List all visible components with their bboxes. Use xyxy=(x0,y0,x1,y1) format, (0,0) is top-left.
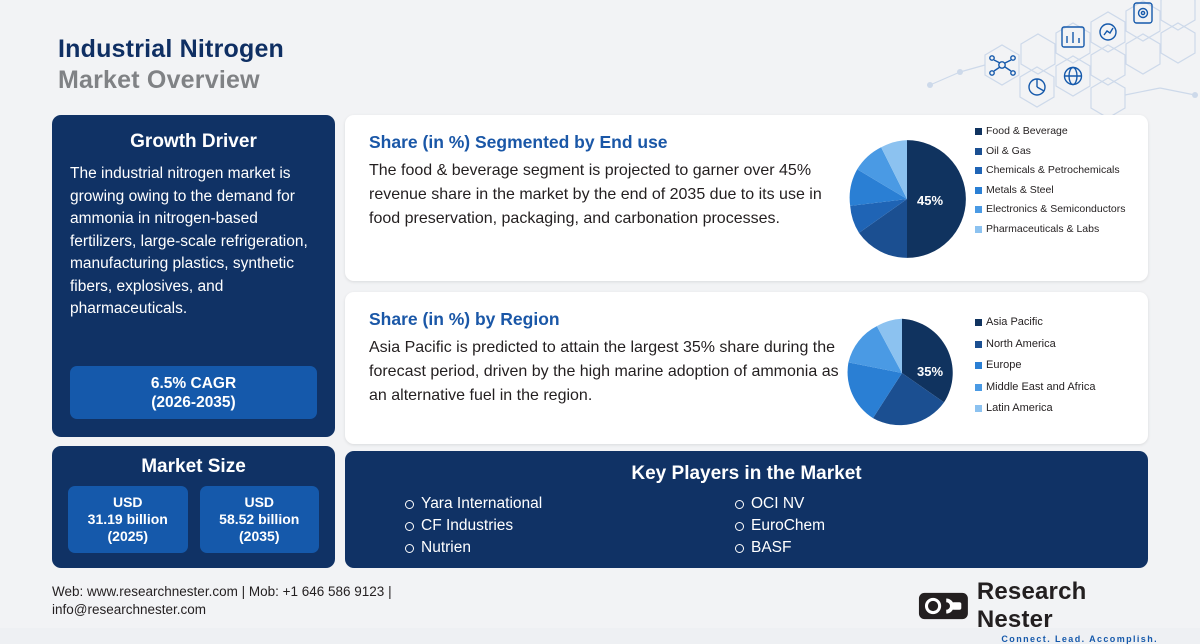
legend-swatch xyxy=(975,405,982,412)
legend-label: Chemicals & Petrochemicals xyxy=(986,164,1120,178)
year-label: (2035) xyxy=(239,528,279,545)
bullet-icon xyxy=(735,544,744,553)
region-pie-chart xyxy=(843,314,961,432)
legend-swatch xyxy=(975,167,982,174)
analytics-chart-icon xyxy=(1100,24,1116,40)
pie-chart-icon xyxy=(1029,79,1045,95)
global-money-icon xyxy=(1065,68,1082,85)
currency-label: USD xyxy=(244,494,274,511)
legend-item: Pharmaceuticals & Labs xyxy=(975,223,1145,237)
value-label: 58.52 billion xyxy=(219,511,299,528)
logo-wordmark: Research Nester xyxy=(977,578,1158,634)
list-item: Nutrien xyxy=(405,537,735,559)
value-label: 31.19 billion xyxy=(88,511,168,528)
cagr-period: (2026-2035) xyxy=(151,393,235,412)
legend-swatch xyxy=(975,226,982,233)
growth-driver-panel: Growth Driver The industrial nitrogen ma… xyxy=(52,115,335,437)
bullet-icon xyxy=(405,500,414,509)
legend-label: Metals & Steel xyxy=(986,184,1054,198)
clipboard-gear-icon xyxy=(1134,3,1152,23)
legend-item: Asia Pacific xyxy=(975,316,1145,330)
list-item: OCI NV xyxy=(735,493,1065,515)
legend-label: Europe xyxy=(986,359,1021,373)
bullet-icon xyxy=(735,500,744,509)
list-item: EuroChem xyxy=(735,515,1065,537)
cagr-value: 6.5% CAGR xyxy=(151,374,236,393)
bar-chart-icon xyxy=(1062,27,1084,47)
player-name: Nutrien xyxy=(421,537,471,559)
footer-contact: Web: www.researchnester.com | Mob: +1 64… xyxy=(52,583,392,619)
research-nester-logo: Research Nester Connect. Lead. Accomplis… xyxy=(918,578,1158,622)
network-node-icon xyxy=(990,56,1015,75)
bullet-icon xyxy=(735,522,744,531)
list-item: Yara International xyxy=(405,493,735,515)
legend-swatch xyxy=(975,206,982,213)
bullet-icon xyxy=(405,522,414,531)
player-name: OCI NV xyxy=(751,493,804,515)
market-size-heading: Market Size xyxy=(52,446,335,486)
legend-label: Oil & Gas xyxy=(986,145,1031,159)
year-label: (2025) xyxy=(108,528,148,545)
legend-item: North America xyxy=(975,338,1145,352)
legend-label: Latin America xyxy=(986,402,1053,416)
market-size-panel: Market Size USD 31.19 billion (2025) USD… xyxy=(52,446,335,568)
legend-swatch xyxy=(975,187,982,194)
legend-label: Middle East and Africa xyxy=(986,381,1095,395)
growth-driver-heading: Growth Driver xyxy=(52,115,335,163)
logo-tagline: Connect. Lead. Accomplish. xyxy=(918,634,1158,644)
player-name: EuroChem xyxy=(751,515,825,537)
legend-item: Food & Beverage xyxy=(975,125,1145,139)
end-use-legend: Food & Beverage Oil & Gas Chemicals & Pe… xyxy=(975,125,1145,242)
legend-label: Electronics & Semiconductors xyxy=(986,203,1125,217)
legend-swatch xyxy=(975,362,982,369)
legend-label: North America xyxy=(986,338,1056,352)
key-players-heading: Key Players in the Market xyxy=(345,451,1148,493)
legend-swatch xyxy=(975,128,982,135)
logo-word-1: Research xyxy=(977,578,1087,605)
legend-label: Asia Pacific xyxy=(986,316,1043,330)
region-legend: Asia Pacific North America Europe Middle… xyxy=(975,316,1145,424)
footer-line-1: Web: www.researchnester.com | Mob: +1 64… xyxy=(52,583,392,601)
legend-item: Chemicals & Petrochemicals xyxy=(975,164,1145,178)
infographic-page: Industrial Nitrogen Market Overview Grow… xyxy=(0,0,1200,628)
legend-item: Metals & Steel xyxy=(975,184,1145,198)
hexagon-network-decoration xyxy=(780,0,1200,130)
player-name: CF Industries xyxy=(421,515,513,537)
legend-label: Food & Beverage xyxy=(986,125,1068,139)
key-players-panel: Key Players in the Market Yara Internati… xyxy=(345,451,1148,568)
growth-driver-body: The industrial nitrogen market is growin… xyxy=(52,163,335,321)
key-players-column-left: Yara International CF Industries Nutrien xyxy=(405,493,735,559)
list-item: BASF xyxy=(735,537,1065,559)
logo-word-2: Nester xyxy=(977,606,1053,633)
title-line-1: Industrial Nitrogen xyxy=(58,34,284,64)
page-title: Industrial Nitrogen Market Overview xyxy=(58,34,284,96)
end-use-pie-chart xyxy=(843,135,971,263)
end-use-body: The food & beverage segment is projected… xyxy=(345,159,839,231)
key-players-column-right: OCI NV EuroChem BASF xyxy=(735,493,1065,559)
player-name: BASF xyxy=(751,537,791,559)
end-use-pie-center-label: 45% xyxy=(917,193,943,208)
market-size-box-2025: USD 31.19 billion (2025) xyxy=(68,486,188,553)
end-use-card: Share (in %) Segmented by End use The fo… xyxy=(345,115,1148,281)
legend-swatch xyxy=(975,341,982,348)
logo-mark-icon xyxy=(918,589,969,623)
legend-item: Latin America xyxy=(975,402,1145,416)
legend-item: Electronics & Semiconductors xyxy=(975,203,1145,217)
currency-label: USD xyxy=(113,494,143,511)
legend-item: Middle East and Africa xyxy=(975,381,1145,395)
footer-line-2: info@researchnester.com xyxy=(52,601,392,619)
list-item: CF Industries xyxy=(405,515,735,537)
legend-label: Pharmaceuticals & Labs xyxy=(986,223,1099,237)
bullet-icon xyxy=(405,544,414,553)
region-card: Share (in %) by Region Asia Pacific is p… xyxy=(345,292,1148,444)
region-body: Asia Pacific is predicted to attain the … xyxy=(345,336,839,408)
legend-item: Oil & Gas xyxy=(975,145,1145,159)
legend-item: Europe xyxy=(975,359,1145,373)
legend-swatch xyxy=(975,384,982,391)
market-size-box-2035: USD 58.52 billion (2035) xyxy=(200,486,320,553)
legend-swatch xyxy=(975,148,982,155)
cagr-badge: 6.5% CAGR (2026-2035) xyxy=(70,366,317,419)
legend-swatch xyxy=(975,319,982,326)
player-name: Yara International xyxy=(421,493,542,515)
title-line-2: Market Overview xyxy=(58,64,284,96)
region-pie-center-label: 35% xyxy=(917,364,943,379)
